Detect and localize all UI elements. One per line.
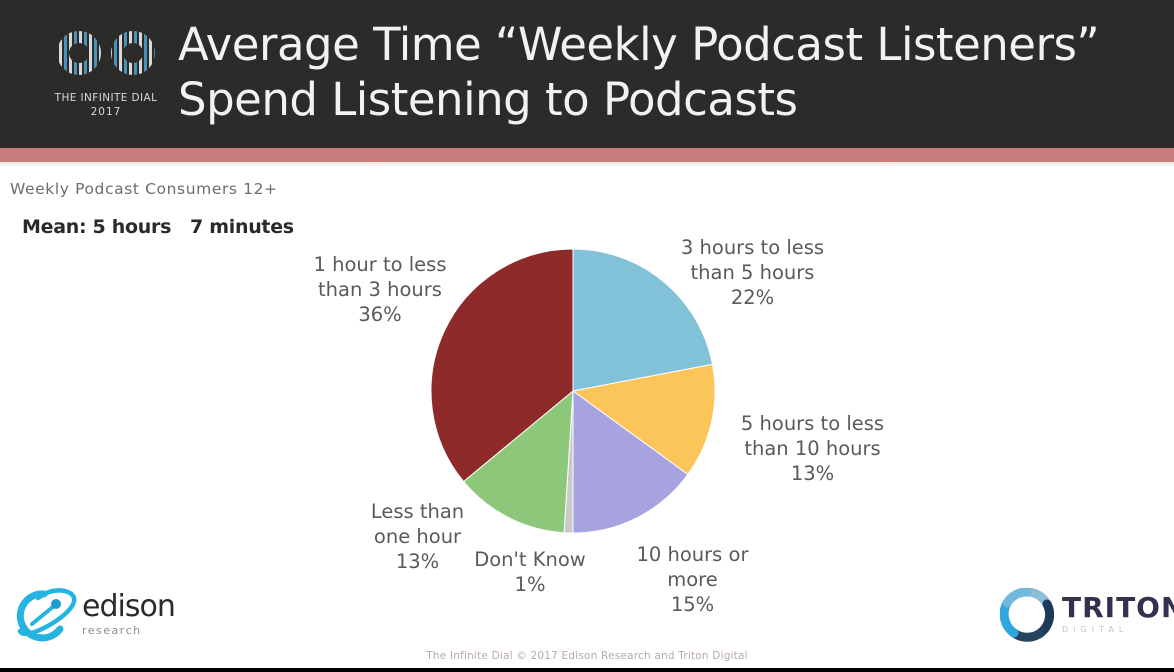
infinity-dial-icon: [46, 22, 166, 84]
chart-mean-label: Mean: 5 hours 7 minutes: [22, 216, 294, 238]
page-title: Average Time “Weekly Podcast Listeners” …: [178, 18, 1158, 128]
pie-label-3-to-5-hours: 3 hours to less than 5 hours 22%: [665, 236, 840, 311]
triton-circle-icon: [1000, 588, 1054, 642]
edison-wordmark: edison: [82, 592, 175, 622]
header-accent-stripe: [0, 148, 1174, 162]
triton-logo-text: TRITON DIGITAL: [1062, 594, 1174, 634]
pie-label-5-to-10-hours: 5 hours to less than 10 hours 13%: [730, 412, 895, 487]
triton-digital-logo: TRITON DIGITAL: [1000, 588, 1165, 644]
bottom-rule: [0, 668, 1174, 672]
edison-swirl-icon: [14, 584, 80, 648]
infinite-dial-logo: THE INFINITE DIAL 2017: [38, 22, 174, 130]
logo-name: THE INFINITE DIAL: [38, 92, 174, 104]
triton-wordmark: TRITON: [1062, 594, 1174, 622]
pie-label-less-than-one-hour: Less than one hour 13%: [355, 500, 480, 575]
pie-label-10-hours-or-more: 10 hours or more 15%: [615, 543, 770, 618]
edison-logo-text: edison research: [82, 592, 175, 637]
logo-year: 2017: [38, 106, 174, 118]
edison-research-logo: edison research: [14, 584, 194, 652]
triton-tagline: DIGITAL: [1062, 625, 1174, 634]
chart-base-label: Weekly Podcast Consumers 12+: [10, 180, 278, 198]
copyright-note: The Infinite Dial © 2017 Edison Research…: [0, 650, 1174, 662]
page-title-line1: Average Time “Weekly Podcast Listeners”: [178, 18, 1158, 73]
pie-label-1-to-3-hours: 1 hour to less than 3 hours 36%: [300, 253, 460, 328]
edison-tagline: research: [82, 624, 175, 637]
page-title-line2: Spend Listening to Podcasts: [178, 73, 1158, 128]
header-stripe-shadow: [0, 162, 1174, 167]
